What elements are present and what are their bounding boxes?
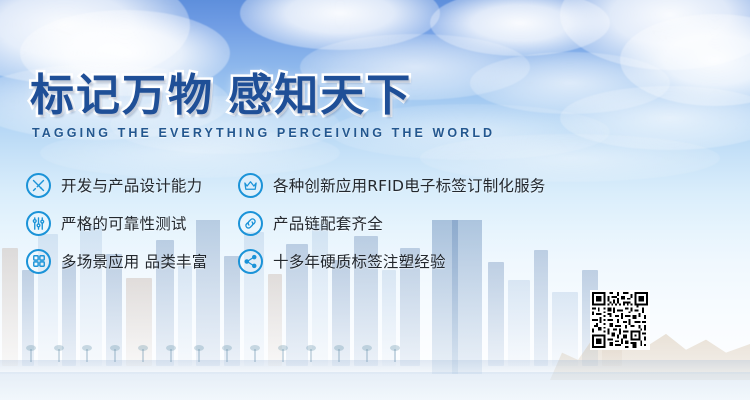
- headline: 标记万物 感知天下: [30, 74, 412, 118]
- promo-banner: 标记万物 感知天下 TAGGING THE EVERYTHING PERCEIV…: [0, 0, 750, 400]
- feature-label: 严格的可靠性测试: [61, 212, 187, 234]
- tools-icon: [26, 173, 51, 198]
- subheadline: TAGGING THE EVERYTHING PERCEIVING THE WO…: [32, 126, 495, 140]
- feature-item: 开发与产品设计能力: [26, 166, 238, 204]
- feature-label: 多场景应用 品类丰富: [61, 250, 207, 272]
- feature-row: 开发与产品设计能力 各种创新应用RFID电子标签订制化服务: [26, 166, 726, 204]
- waterfront: [0, 372, 750, 400]
- coastal-rocks: [550, 308, 750, 380]
- feature-label: 开发与产品设计能力: [61, 174, 202, 196]
- feature-item: 各种创新应用RFID电子标签订制化服务: [238, 166, 726, 204]
- feature-row: 严格的可靠性测试 产品链配套齐全: [26, 204, 726, 242]
- feature-row: 多场景应用 品类丰富 十多年硬质标签注塑经验: [26, 242, 726, 280]
- feature-label: 十多年硬质标签注塑经验: [273, 250, 446, 272]
- sliders-icon: [26, 211, 51, 236]
- crown-icon: [238, 173, 263, 198]
- feature-item: 多场景应用 品类丰富: [26, 242, 238, 280]
- feature-item: 十多年硬质标签注塑经验: [238, 242, 726, 280]
- qr-code[interactable]: [590, 290, 650, 350]
- share-icon: [238, 249, 263, 274]
- link-icon: [238, 211, 263, 236]
- promenade: [0, 360, 750, 374]
- feature-item: 严格的可靠性测试: [26, 204, 238, 242]
- feature-list: 开发与产品设计能力 各种创新应用RFID电子标签订制化服务: [26, 166, 726, 280]
- feature-label: 各种创新应用RFID电子标签订制化服务: [273, 174, 546, 196]
- feature-item: 产品链配套齐全: [238, 204, 726, 242]
- grid-icon: [26, 249, 51, 274]
- feature-label: 产品链配套齐全: [273, 212, 383, 234]
